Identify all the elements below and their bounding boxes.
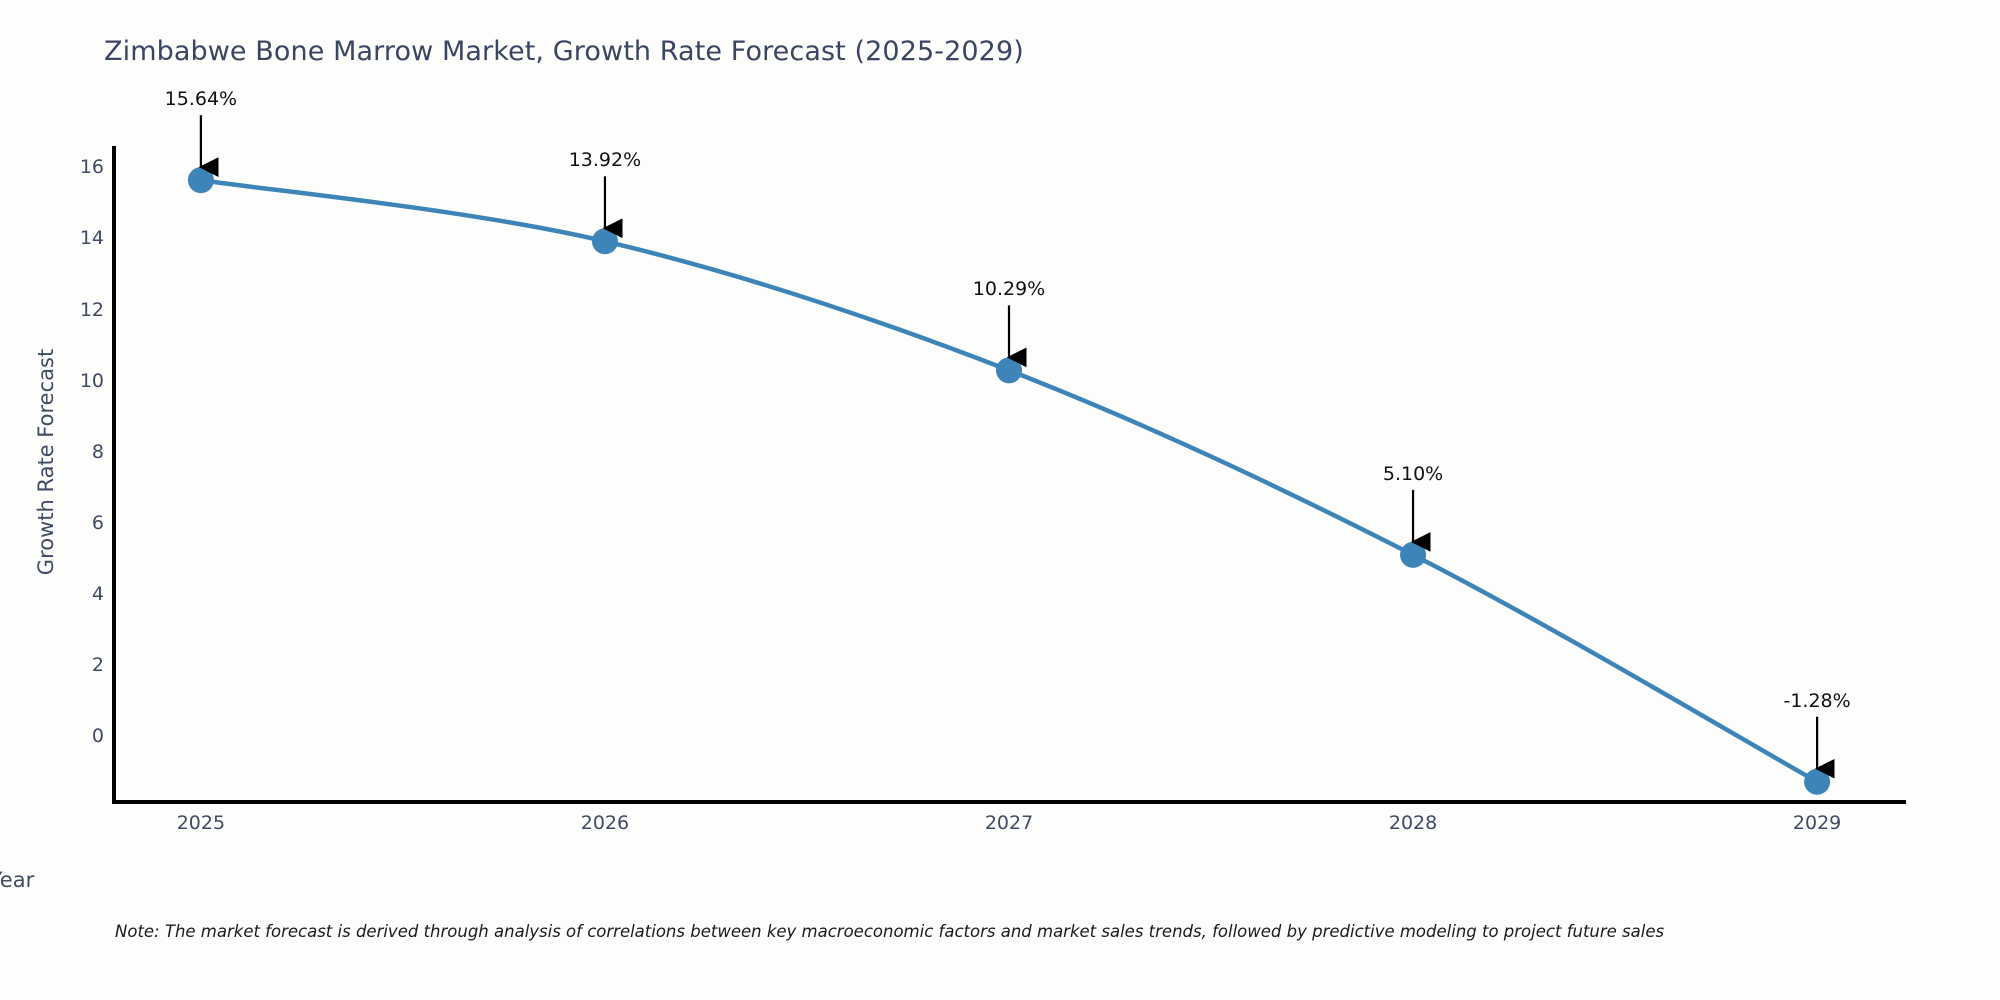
series-markers bbox=[188, 167, 1830, 795]
data-point-2029[interactable] bbox=[1804, 769, 1830, 795]
chart-footnote: Note: The market forecast is derived thr… bbox=[115, 922, 1664, 941]
annotation-label-2025: 15.64% bbox=[165, 88, 237, 110]
annotation-label-2027: 10.29% bbox=[973, 278, 1045, 300]
data-point-2028[interactable] bbox=[1400, 542, 1426, 568]
annotation-label-2026: 13.92% bbox=[569, 149, 641, 171]
annotation-label-2029: -1.28% bbox=[1783, 690, 1850, 712]
chart-canvas: Zimbabwe Bone Marrow Market, Growth Rate… bbox=[0, 0, 2000, 1000]
annotation-label-2028: 5.10% bbox=[1383, 463, 1443, 485]
data-point-2027[interactable] bbox=[996, 357, 1022, 383]
data-point-2025[interactable] bbox=[188, 167, 214, 193]
series-line bbox=[201, 180, 1817, 782]
plot-area bbox=[0, 0, 2000, 1000]
data-point-2026[interactable] bbox=[592, 228, 618, 254]
